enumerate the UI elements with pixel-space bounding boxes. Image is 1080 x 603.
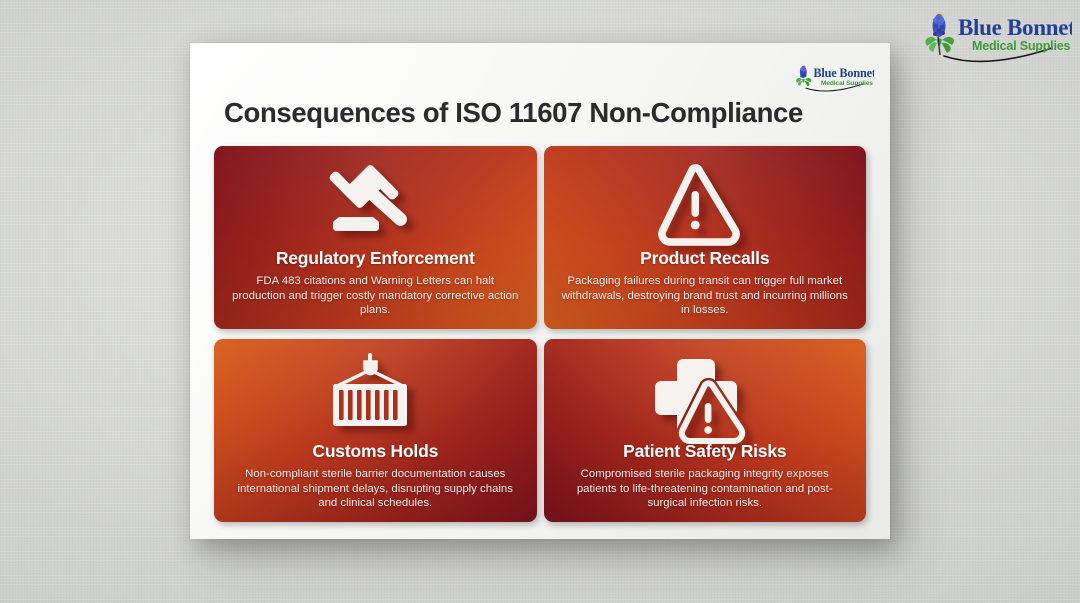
gavel-icon [321,160,429,246]
bluebonnet-flower-icon-small [796,65,811,87]
card-brand-logo-svg: Blue Bonnet Medical Supplies [790,61,874,94]
shipping-container-icon [325,353,425,439]
panel-description: Packaging failures during transit can tr… [546,269,864,318]
poster-card: Consequences of ISO 11607 Non-Compliance [190,43,890,539]
poster-header: Consequences of ISO 11607 Non-Compliance [190,43,890,148]
consequences-panel-grid: Regulatory Enforcement FDA 483 citations… [214,146,866,522]
panel-description: FDA 483 citations and Warning Letters ca… [216,269,534,318]
brand-name-primary: Blue Bonnet [958,15,1072,40]
panel-title: Regulatory Enforcement [276,248,475,269]
card-brand-logo: Blue Bonnet Medical Supplies [790,61,874,94]
panel-product-recalls[interactable]: Product Recalls Packaging failures durin… [544,146,867,329]
panel-customs-holds[interactable]: Customs Holds Non-compliant sterile barr… [214,339,537,522]
card-brand-name-secondary: Medical Supplies [821,80,873,87]
panel-title: Patient Safety Risks [623,441,786,462]
panel-description: Non-compliant sterile barrier documentat… [216,462,534,511]
bluebonnet-flower-icon [926,12,955,55]
panel-regulatory-enforcement[interactable]: Regulatory Enforcement FDA 483 citations… [214,146,537,329]
panel-title: Customs Holds [312,441,438,462]
brand-name-secondary: Medical Supplies [972,39,1070,53]
panel-title: Product Recalls [640,248,769,269]
panel-description: Compromised sterile packaging integrity … [546,462,864,511]
panel-patient-safety-risks[interactable]: Patient Safety Risks Compromised sterile… [544,339,867,522]
page-title: Consequences of ISO 11607 Non-Compliance [224,97,803,129]
medical-cross-warning-icon [655,353,755,439]
warning-triangle-icon [659,160,751,246]
brand-watermark-logo: Blue Bonnet Medical Supplies [914,6,1072,66]
brand-logo-svg: Blue Bonnet Medical Supplies [914,6,1072,66]
card-brand-name-primary: Blue Bonnet [813,66,874,80]
